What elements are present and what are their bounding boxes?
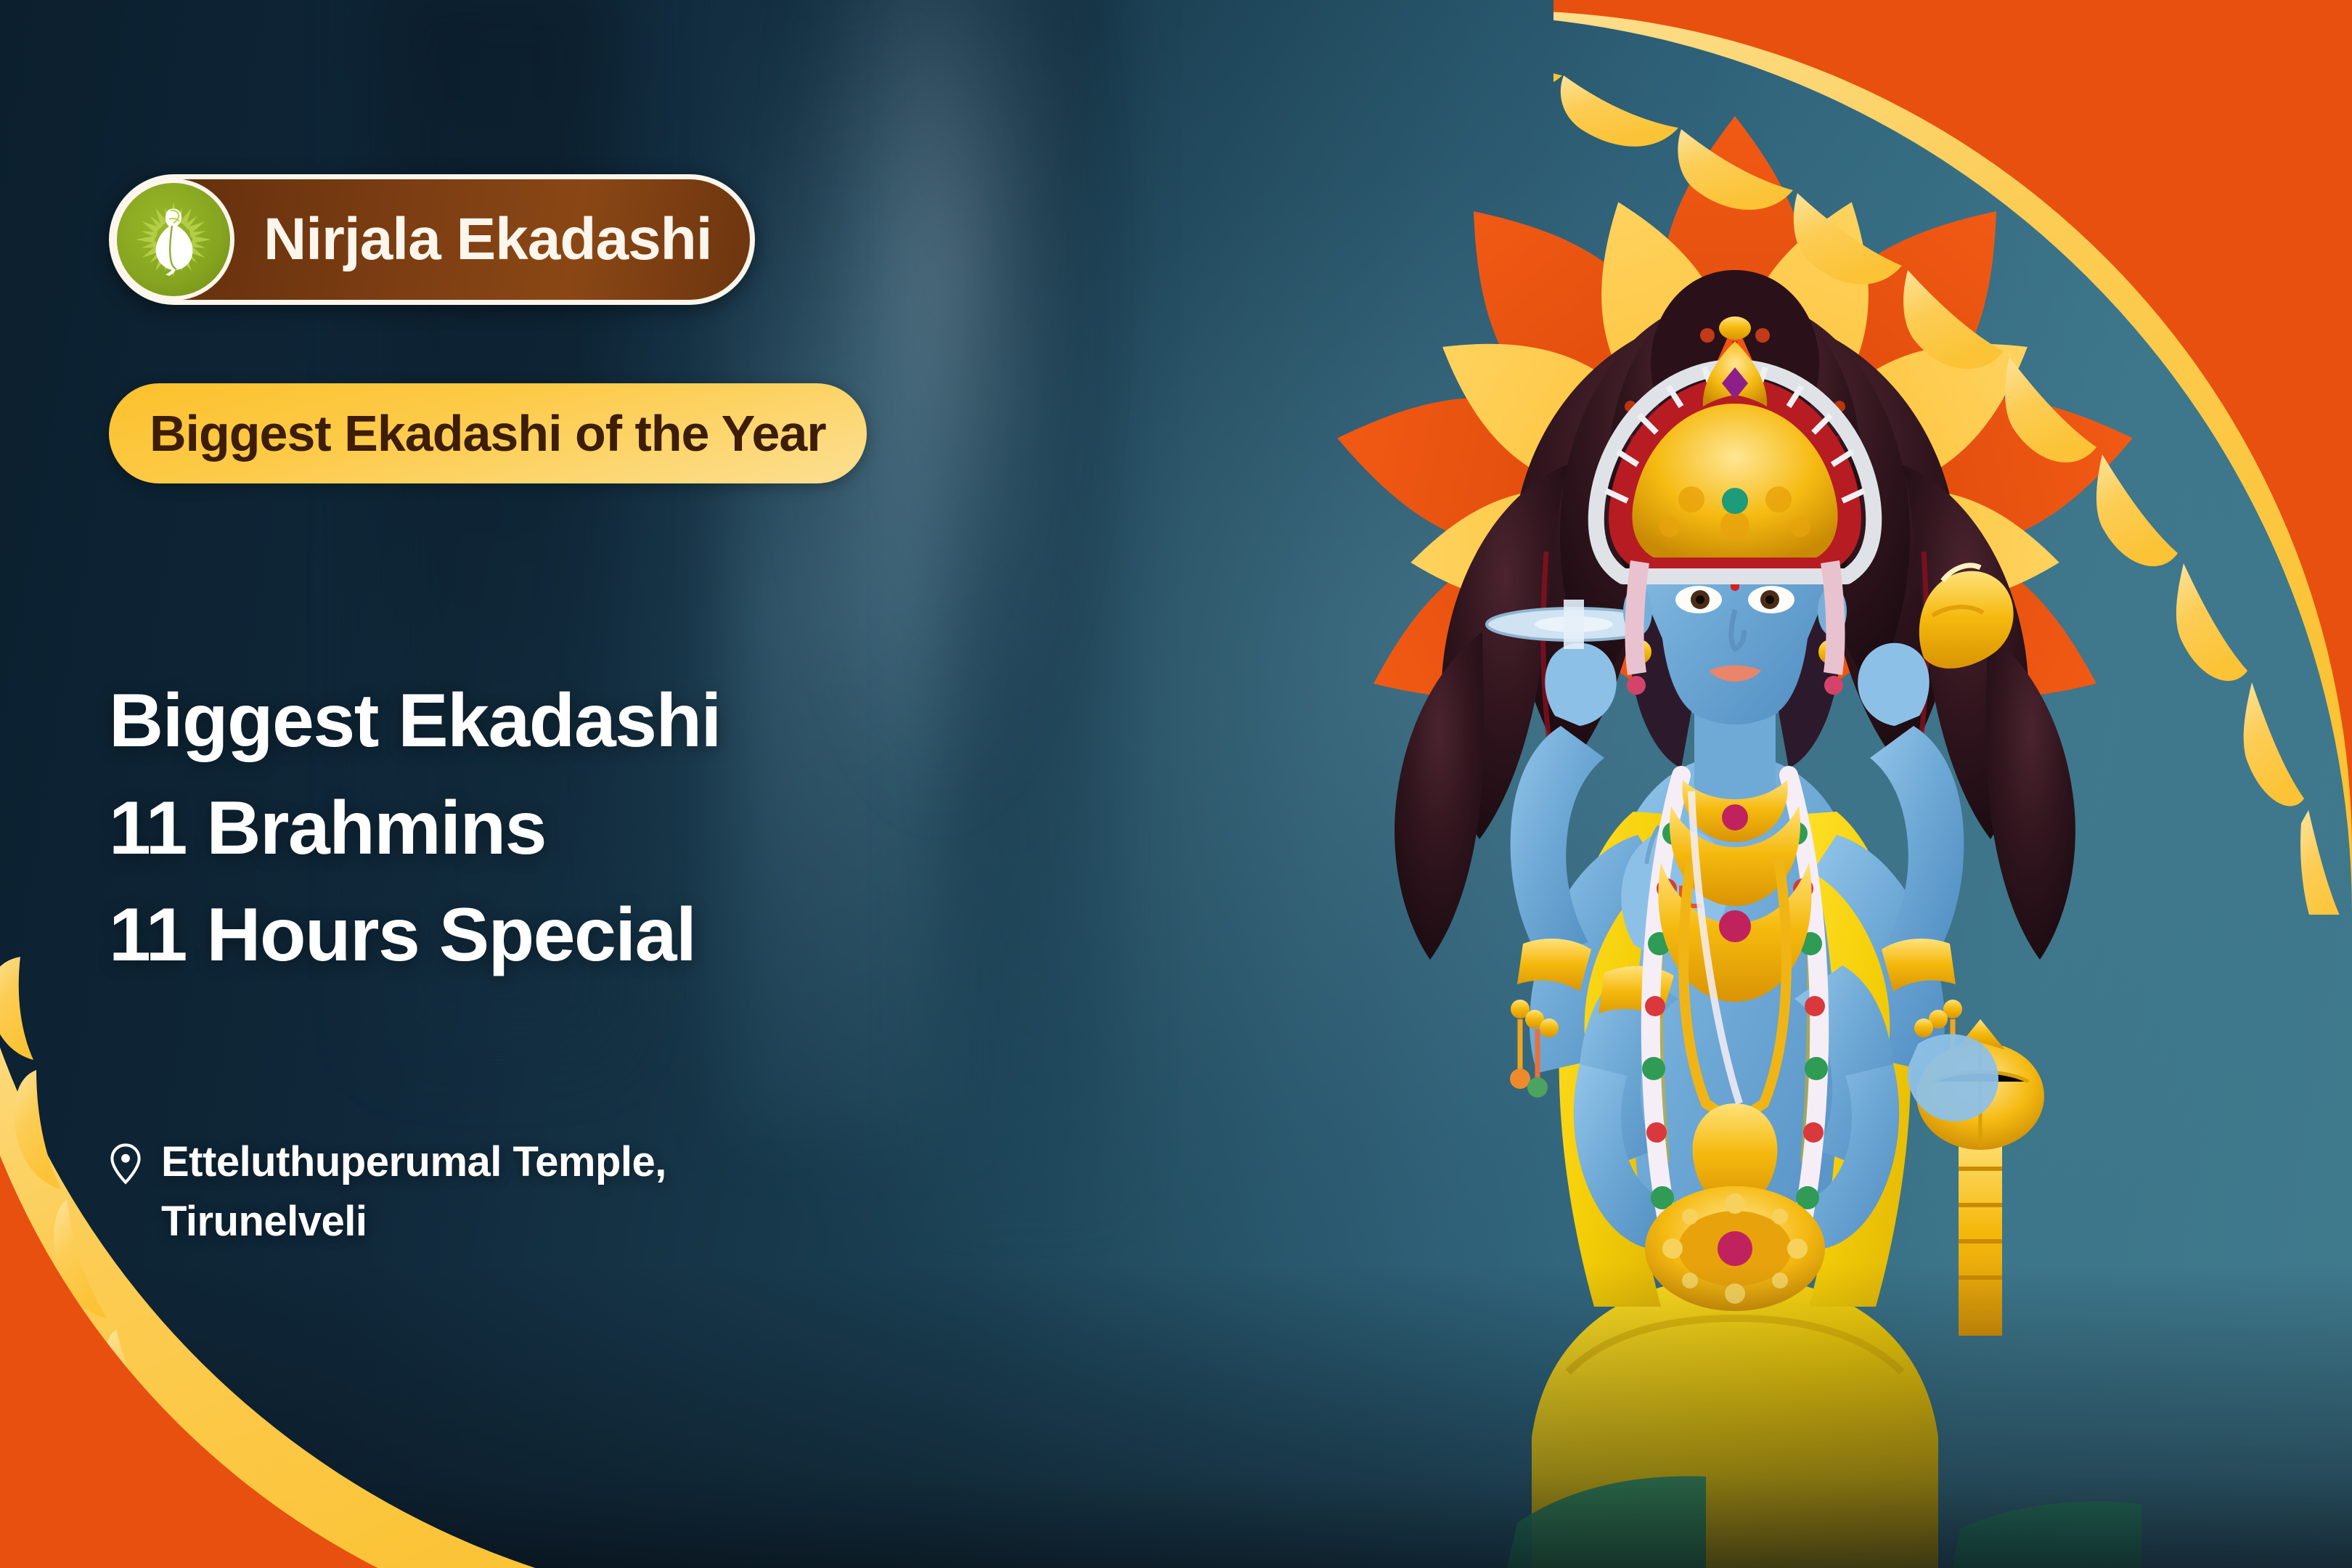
- content-column: Nirjala Ekadashi Biggest Ekadashi of the…: [109, 0, 1161, 1568]
- headline-line-3: 11 Hours Special: [109, 882, 721, 989]
- headline: Biggest Ekadashi 11 Brahmins 11 Hours Sp…: [109, 668, 721, 989]
- location-block: Etteluthuperumal Temple, Tirunelveli: [109, 1132, 666, 1252]
- location-pin-icon: [109, 1143, 142, 1185]
- promotional-banner: Nirjala Ekadashi Biggest Ekadashi of the…: [0, 0, 2352, 1568]
- corner-ornament-top-right: [1553, 0, 2352, 915]
- brand-name-label: Nirjala Ekadashi: [264, 205, 712, 274]
- headline-line-2: 11 Brahmins: [109, 775, 721, 883]
- location-line-1: Etteluthuperumal Temple,: [161, 1132, 666, 1192]
- brand-badge[interactable]: Nirjala Ekadashi: [109, 174, 755, 305]
- tagline-label: Biggest Ekadashi of the Year: [150, 404, 826, 462]
- location-address: Etteluthuperumal Temple, Tirunelveli: [161, 1132, 666, 1252]
- conch-shell-icon: [113, 179, 234, 301]
- tagline-badge[interactable]: Biggest Ekadashi of the Year: [109, 383, 867, 483]
- headline-line-1: Biggest Ekadashi: [109, 668, 721, 775]
- location-line-2: Tirunelveli: [161, 1192, 666, 1251]
